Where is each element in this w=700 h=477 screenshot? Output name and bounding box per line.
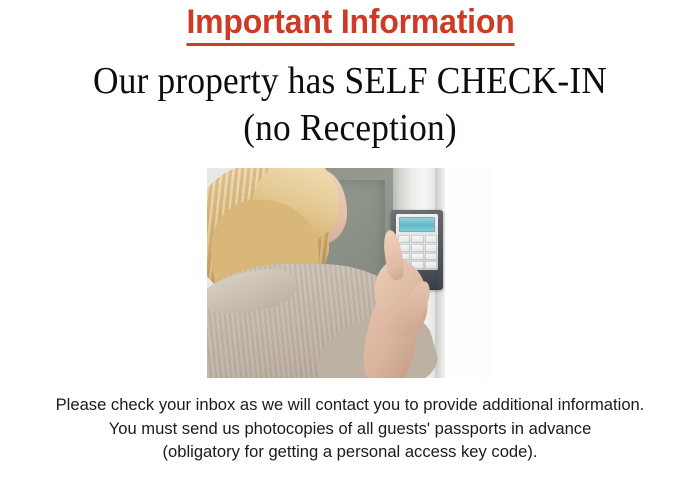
footer-line-3: (obligatory for getting a personal acces… xyxy=(9,440,692,464)
important-information-notice: Important Information Our property has S… xyxy=(0,0,700,477)
photo-keypad-key xyxy=(425,261,437,269)
photo-keypad-key xyxy=(411,235,423,243)
page-title: Important Information xyxy=(186,2,514,46)
notice-headline: Our property has SELF CHECK-IN (no Recep… xyxy=(0,58,700,152)
photo-keypad-key xyxy=(425,235,437,243)
headline-line-1: Our property has SELF CHECK-IN xyxy=(25,58,676,105)
headline-line-2: (no Reception) xyxy=(25,105,676,152)
photo-keypad-key xyxy=(425,253,437,261)
photo-keypad-key xyxy=(425,244,437,252)
keypad-entry-photo xyxy=(207,168,491,378)
notice-footer: Please check your inbox as we will conta… xyxy=(0,393,700,464)
photo-keypad-key xyxy=(411,244,423,252)
notice-title-block: Important Information xyxy=(0,2,700,46)
photo-keypad-key xyxy=(398,235,410,243)
footer-line-2: You must send us photocopies of all gues… xyxy=(9,417,692,441)
footer-line-1: Please check your inbox as we will conta… xyxy=(9,393,692,417)
photo-keypad-lcd-screen xyxy=(399,217,435,232)
photo-keypad-key xyxy=(411,253,423,261)
